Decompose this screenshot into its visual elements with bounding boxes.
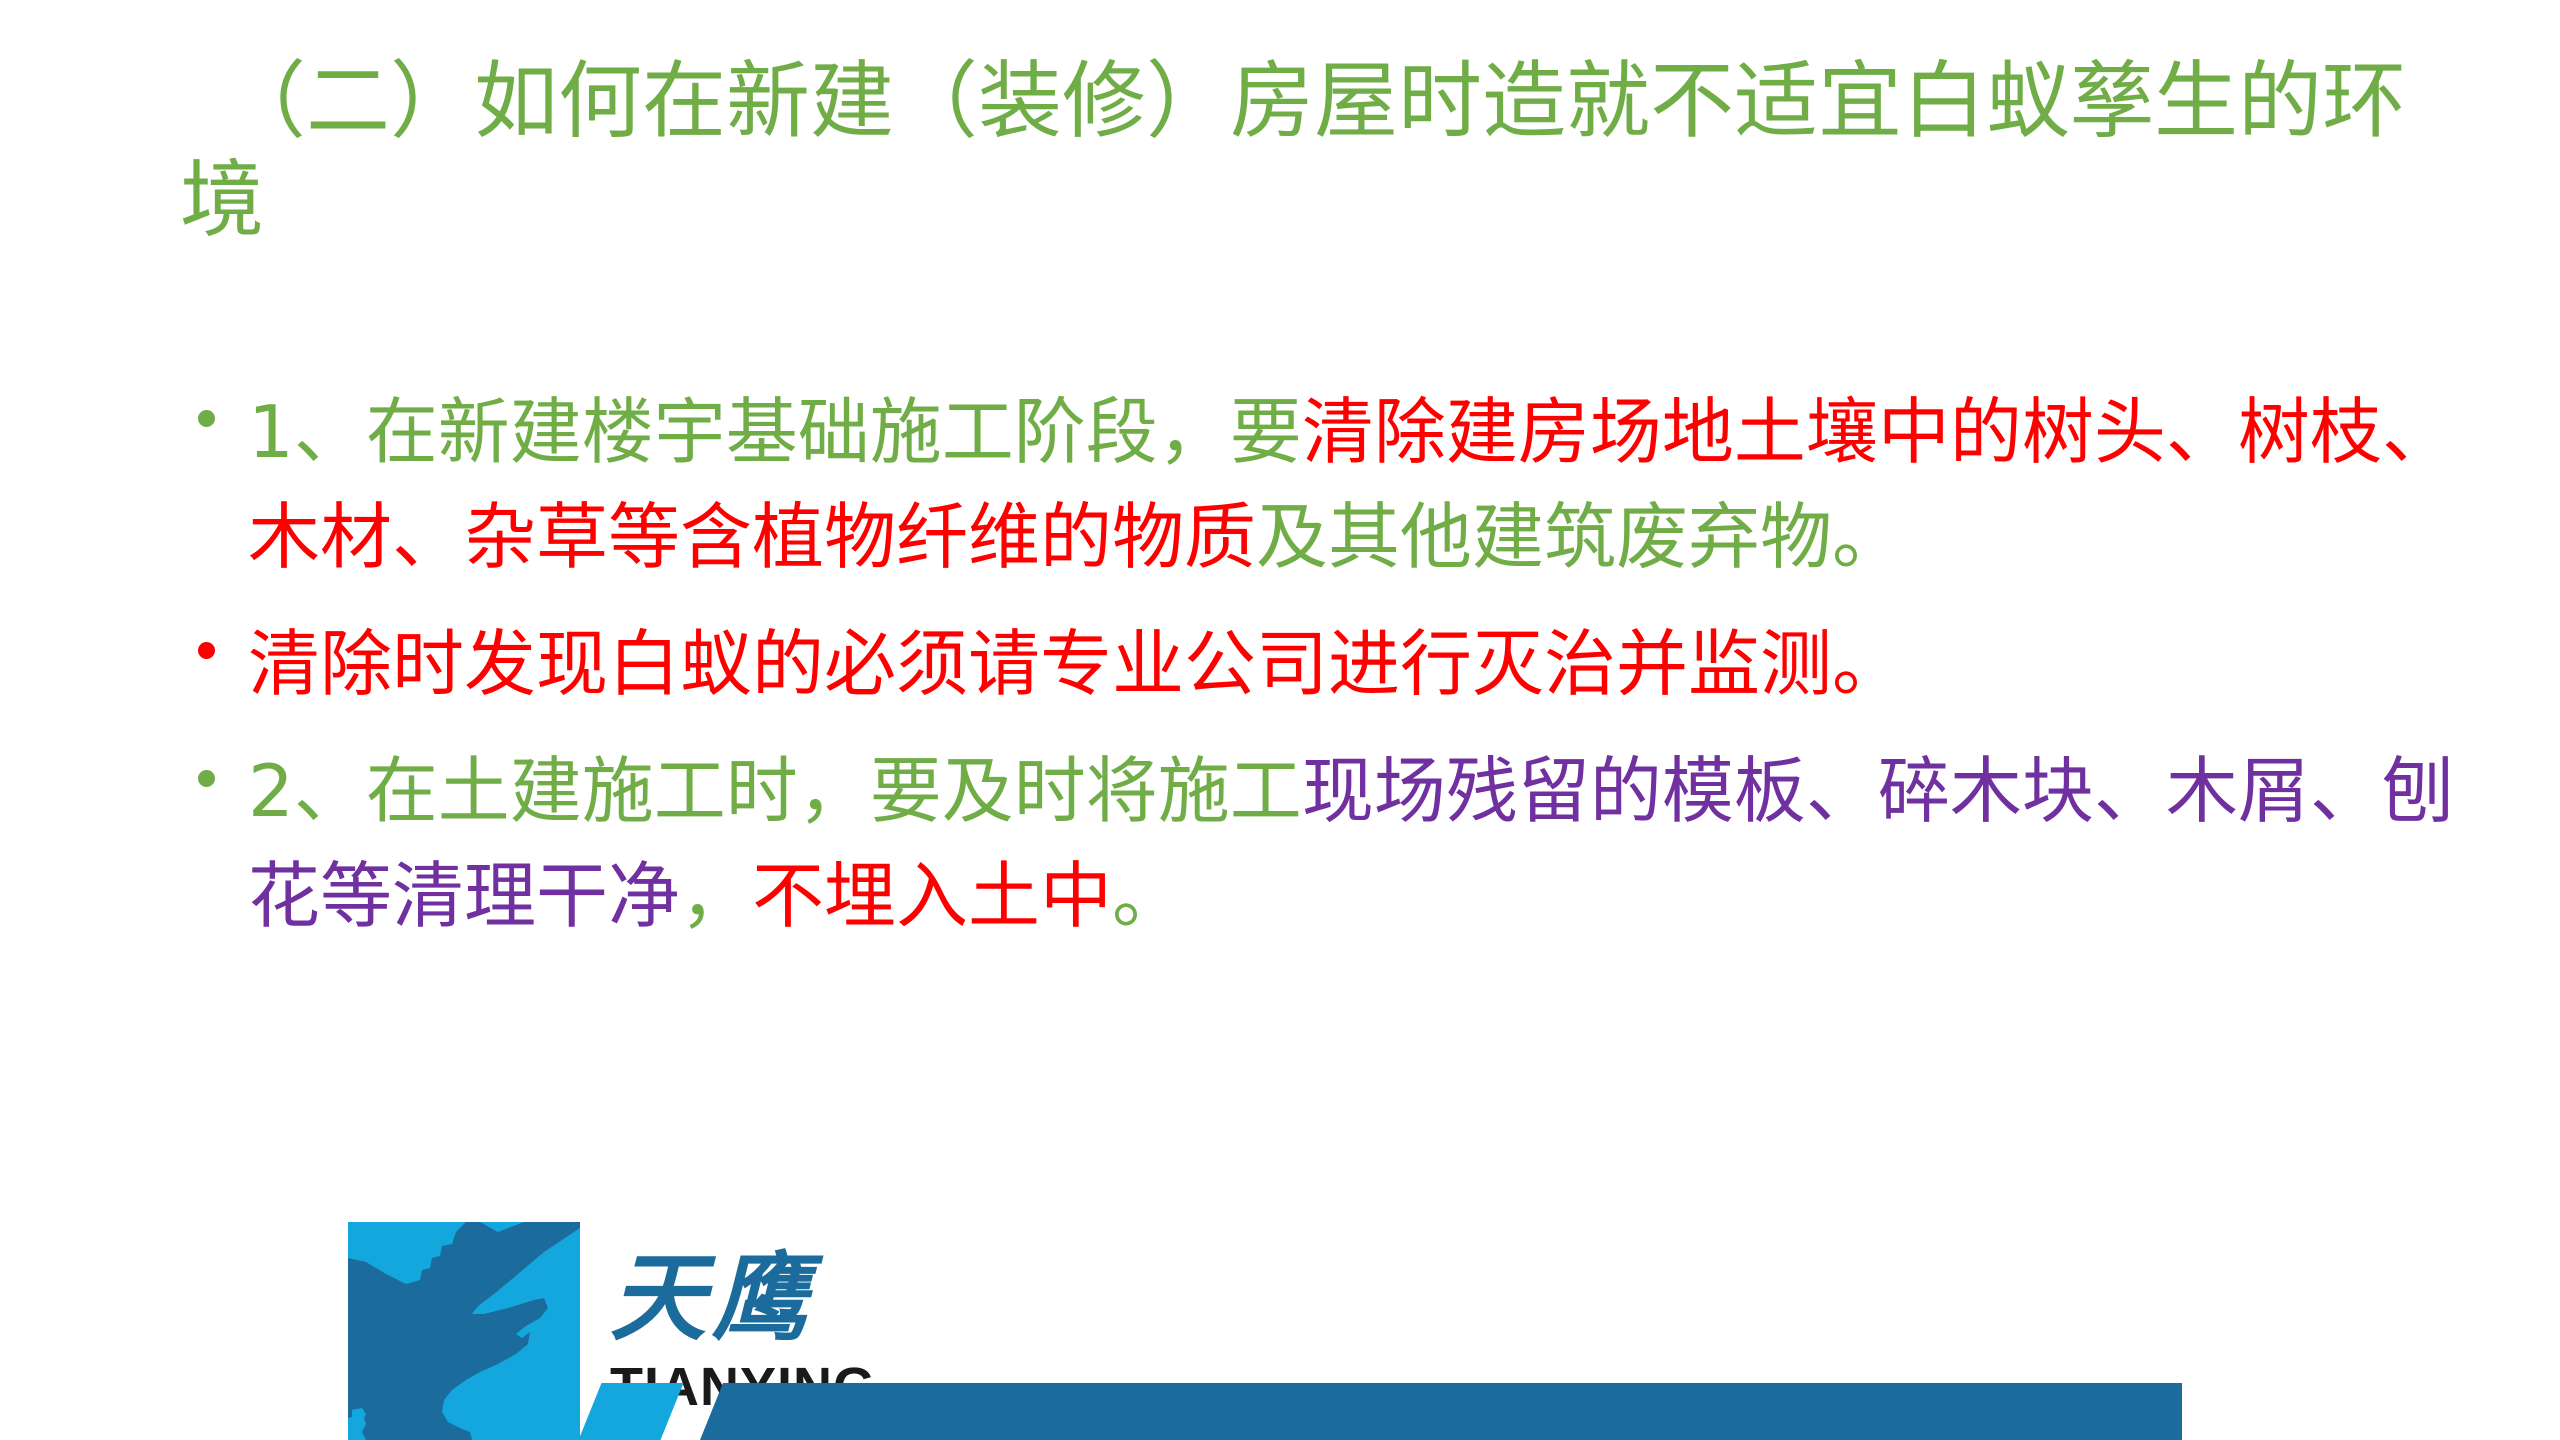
list-item: 2、在土建施工时，要及时将施工现场残留的模板、碎木块、木屑、刨花等清理干净，不埋… <box>190 739 2510 949</box>
bullet-run-text: 及其他建筑废弃物。 <box>1256 495 1904 579</box>
footer-bar <box>700 1383 2182 1440</box>
list-item: 1、在新建楼宇基础施工阶段，要清除建房场地土壤中的树头、树枝、木材、杂草等含植物… <box>190 380 2510 590</box>
body-content: 1、在新建楼宇基础施工阶段，要清除建房场地土壤中的树头、树枝、木材、杂草等含植物… <box>190 380 2510 972</box>
logo-chinese-name: 天鹰 <box>610 1250 814 1346</box>
bullet-run-text: 不埋入土中 <box>752 854 1112 938</box>
bullet-marker-icon <box>198 410 215 427</box>
bullet-marker-icon <box>198 770 215 787</box>
slide-canvas: （二）如何在新建（装修）房屋时造就不适宜白蚁孳生的环境 1、在新建楼宇基础施工阶… <box>0 0 2560 1440</box>
bullet-run-text: ， <box>680 854 752 938</box>
list-item: 清除时发现白蚁的必须请专业公司进行灭治并监测。 <box>190 612 2510 717</box>
page-title: （二）如何在新建（装修）房屋时造就不适宜白蚁孳生的环境 <box>180 52 2460 250</box>
bullet-run-text: 1、在新建楼宇基础施工阶段，要 <box>248 390 1302 474</box>
bullet-marker-icon <box>198 642 215 659</box>
bullet-run-text: 清除时发现白蚁的必须请专业公司进行灭治并监测。 <box>248 622 1904 706</box>
bullet-run-text: 2、在土建施工时，要及时将施工 <box>248 749 1302 833</box>
bullet-run-text: 。 <box>1112 854 1184 938</box>
eagle-logo-icon <box>348 1222 580 1440</box>
